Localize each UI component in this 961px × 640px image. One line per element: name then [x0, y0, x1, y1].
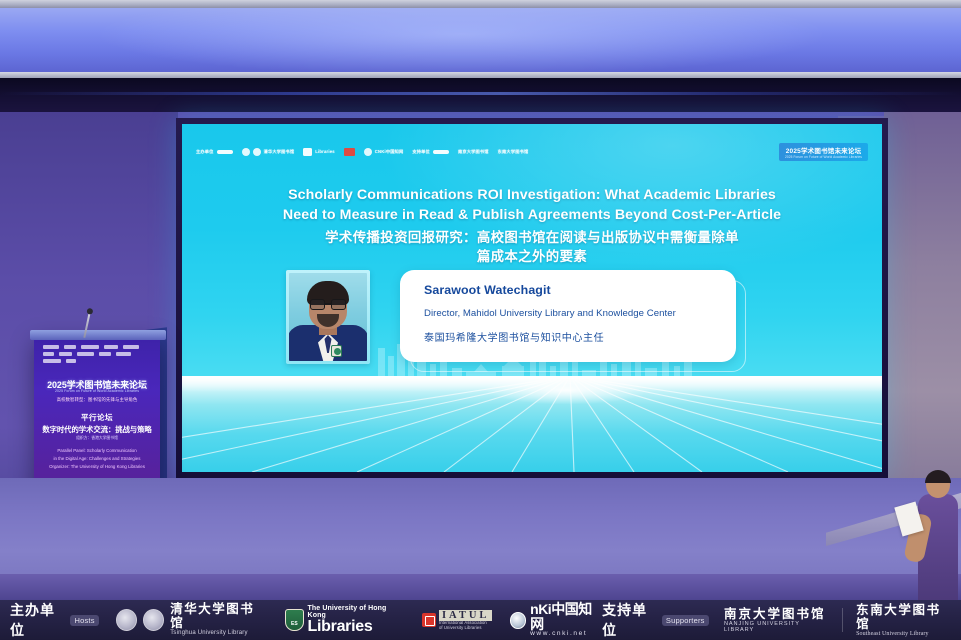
crest-icon: [303, 148, 312, 156]
tsinghua-name: 清华大学图书馆 Tsinghua University Library: [170, 603, 264, 637]
hku-name: The University of Hong Kong Libraries: [308, 605, 403, 635]
sponsor-iatul: IATUL International Association of Unive…: [422, 610, 492, 630]
hku-name-main: Libraries: [308, 619, 403, 635]
slide-title: Scholarly Communications ROI Investigati…: [230, 186, 834, 225]
stage-front-edge: [0, 574, 961, 600]
cnki-url: www.cnki.net: [530, 631, 602, 638]
podium-panel-en-1: Parallel Panel: Scholarly Communication: [38, 448, 156, 453]
hosts-label: 主办单位 Hosts: [10, 600, 99, 640]
supporters-label: 支持单位 Supporters: [602, 600, 708, 640]
slide-subtitle-line1: 学术传播投资回报研究：高校图书馆在阅读与出版协议中需衡量除单: [252, 228, 812, 247]
slide-logo-iatul: [344, 148, 355, 156]
slide-logo-tsinghua: 清华大学图书馆: [242, 148, 295, 156]
pill-icon: [217, 150, 233, 154]
speaker-photo-frame: [286, 270, 370, 364]
portrait-lapel-emblem: [331, 345, 342, 357]
cnki-name: nKi中国知网 www.cnki.net: [530, 602, 602, 638]
slide-logo-hku: Libraries: [303, 148, 335, 156]
ceiling-trim: [0, 0, 961, 8]
podium-panel-label: 平行论坛: [38, 412, 156, 423]
supporters-label-en: Supporters: [662, 615, 709, 626]
sponsor-cnki: nKi中国知网 www.cnki.net: [510, 602, 602, 638]
slide-logo-cnki: CNKi中国知网: [364, 148, 404, 156]
iatul-name: IATUL International Association of Unive…: [439, 610, 492, 630]
floor-perspective-lines: [182, 376, 882, 472]
speaker-portrait: [289, 273, 367, 361]
tsinghua-name-en: Tsinghua University Library: [170, 630, 264, 637]
slide-subtitle-line2: 篇成本之外的要素: [252, 247, 812, 266]
logo-label: Libraries: [315, 150, 335, 155]
iatul-mark-icon: [422, 613, 436, 627]
seal-icon: [242, 148, 250, 156]
sponsor-southeast: 东南大学图书馆 Southeast University Library: [856, 603, 951, 638]
conference-stage-photo: 主办单位 清华大学图书馆 Libraries CNKi中国知网 支持单位: [0, 0, 961, 640]
slide-logo-southeast: 东南大学图书馆: [498, 150, 529, 155]
speaker-info-card: Sarawoot Watechagit Director, Mahidol Un…: [400, 270, 736, 362]
forum-badge-en: 2025 Forum on Future of World Academic L…: [785, 155, 862, 159]
logo-label: 主办单位: [196, 150, 214, 155]
iatul-sub-2: of University Libraries: [439, 626, 492, 630]
seal-icon: [253, 148, 261, 156]
cnki-globe-icon: [510, 612, 526, 629]
tsinghua-seal-icon: [116, 609, 137, 631]
podium-panel-title: 数字时代的学术交流：挑战与策略: [38, 424, 156, 435]
sponsor-divider: [842, 608, 843, 632]
slide-logo-supporters-label: 支持单位: [412, 150, 449, 155]
southeast-name-en: Southeast University Library: [856, 631, 951, 638]
podium-panel-en-3: Organizer: The University of Hong Kong L…: [38, 464, 156, 469]
podium-organizer: 组织方：香港大学图书馆: [38, 436, 156, 441]
supporters-label-cn: 支持单位: [602, 600, 658, 640]
logo-label: 东南大学图书馆: [498, 150, 529, 155]
sponsor-hku: The University of Hong Kong Libraries: [285, 605, 402, 635]
logo-label: CNKi中国知网: [375, 150, 404, 155]
speaker-role-en: Director, Mahidol University Library and…: [424, 308, 736, 319]
ceiling-light-wash: [0, 8, 961, 74]
hku-name-top: The University of Hong Kong: [308, 605, 403, 619]
podium-forum-theme: 高校数智转型：图书馆的先锋与主导角色: [38, 397, 156, 403]
podium-top-surface: [30, 330, 166, 340]
podium-logo-row: [43, 345, 151, 371]
pill-icon: [433, 150, 449, 154]
sponsor-tsinghua: 清华大学图书馆 Tsinghua University Library: [116, 603, 264, 637]
logo-label: 南京大学图书馆: [458, 150, 489, 155]
person-at-stage-right: [902, 470, 961, 600]
podium-panel-en-2: in the Digital Age: Challenges and Strat…: [38, 456, 156, 461]
hku-crest-icon: [285, 609, 303, 631]
speaker-name: Sarawoot Watechagit: [424, 283, 736, 297]
projection-screen: 主办单位 清华大学图书馆 Libraries CNKi中国知网 支持单位: [182, 124, 882, 472]
cnki-name-main: nKi中国知网: [530, 602, 602, 631]
person-hair: [925, 470, 951, 483]
glasses-icon: [310, 299, 346, 310]
perspective-floor-graphic: [182, 376, 882, 472]
tsinghua-seal-icon-2: [143, 609, 164, 631]
slide-logo-hosts-label: 主办单位: [196, 150, 233, 155]
iatul-mark-icon: [344, 148, 355, 156]
forum-badge-cn: 2025学术图书馆未来论坛: [786, 145, 862, 155]
nanjing-name-en: NANJING UNIVERSITY LIBRARY: [724, 621, 828, 634]
slide-title-line1: Scholarly Communications ROI Investigati…: [230, 186, 834, 206]
sponsor-nanjing: 南京大学图书馆 NANJING UNIVERSITY LIBRARY: [724, 607, 828, 634]
speaker-role-cn: 泰国玛希隆大学图书馆与知识中心主任: [424, 329, 736, 344]
logo-label: 清华大学图书馆: [264, 150, 295, 155]
southeast-name-cn: 东南大学图书馆: [856, 603, 951, 631]
globe-icon: [364, 148, 372, 156]
logo-label: 支持单位: [412, 150, 430, 155]
slide-logo-nanjing: 南京大学图书馆: [458, 150, 489, 155]
tsinghua-name-cn: 清华大学图书馆: [170, 603, 264, 631]
slide-title-line2: Need to Measure in Read & Publish Agreem…: [230, 206, 834, 226]
slide-logo-strip: 主办单位 清华大学图书馆 Libraries CNKi中国知网 支持单位: [196, 144, 868, 160]
podium-forum-title-en: 2025 Forum on Future of World Academic L…: [40, 389, 154, 393]
slide-subtitle: 学术传播投资回报研究：高校图书馆在阅读与出版协议中需衡量除单 篇成本之外的要素: [252, 228, 812, 267]
sponsor-bar: 主办单位 Hosts 清华大学图书馆 Tsinghua University L…: [0, 600, 961, 640]
forum-badge: 2025学术图书馆未来论坛 2025 Forum on Future of Wo…: [779, 143, 868, 161]
hosts-label-en: Hosts: [70, 615, 98, 626]
hosts-label-cn: 主办单位: [10, 600, 66, 640]
nanjing-name-cn: 南京大学图书馆: [724, 607, 828, 621]
